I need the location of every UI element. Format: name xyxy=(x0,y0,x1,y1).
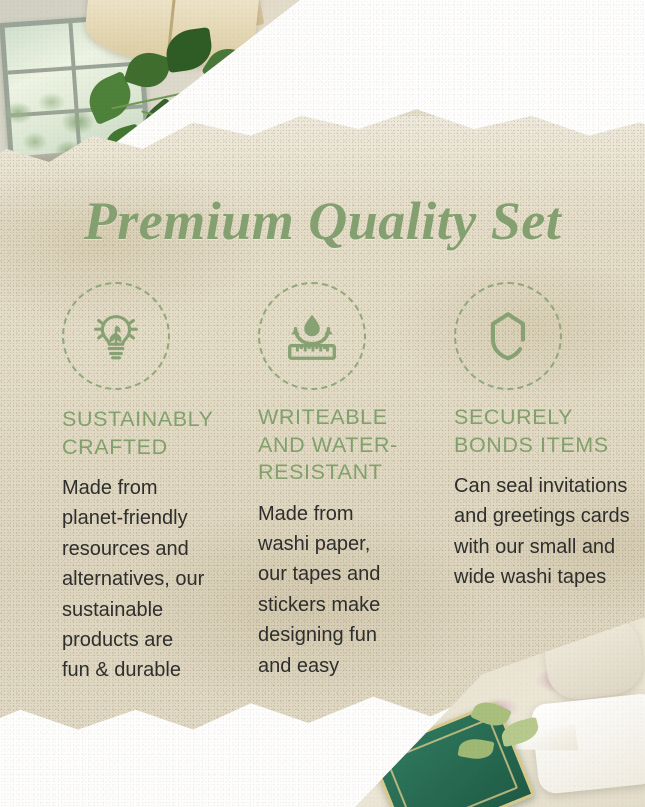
page-title: Premium Quality Set xyxy=(0,190,645,252)
feature-icon-wrap xyxy=(258,282,366,390)
feature-body: Made from planet-friendly resources and … xyxy=(62,473,258,686)
feature-title: SUSTAINABLY CRAFTED xyxy=(62,406,258,461)
feature-title: WRITEABLE AND WATER- RESISTANT xyxy=(258,404,454,487)
feature-column: SUSTAINABLY CRAFTED Made from planet-fri… xyxy=(62,282,258,686)
water-droplet-repel-icon xyxy=(281,305,343,367)
content-layer: Premium Quality Set xyxy=(0,0,645,807)
feature-columns: SUSTAINABLY CRAFTED Made from planet-fri… xyxy=(62,282,645,686)
feature-body: Made from washi paper, our tapes and sti… xyxy=(258,499,454,681)
feature-title: SECURELY BONDS ITEMS xyxy=(454,404,645,459)
lightbulb-plant-icon xyxy=(85,305,147,367)
shield-icon xyxy=(477,305,539,367)
feature-column: SECURELY BONDS ITEMS Can seal invitation… xyxy=(454,282,645,686)
promo-graphic: Premium Quality Set xyxy=(0,0,645,807)
feature-icon-wrap xyxy=(454,282,562,390)
feature-column: WRITEABLE AND WATER- RESISTANT Made from… xyxy=(258,282,454,686)
feature-body: Can seal invitations and greetings cards… xyxy=(454,471,645,593)
feature-icon-wrap xyxy=(62,282,170,390)
